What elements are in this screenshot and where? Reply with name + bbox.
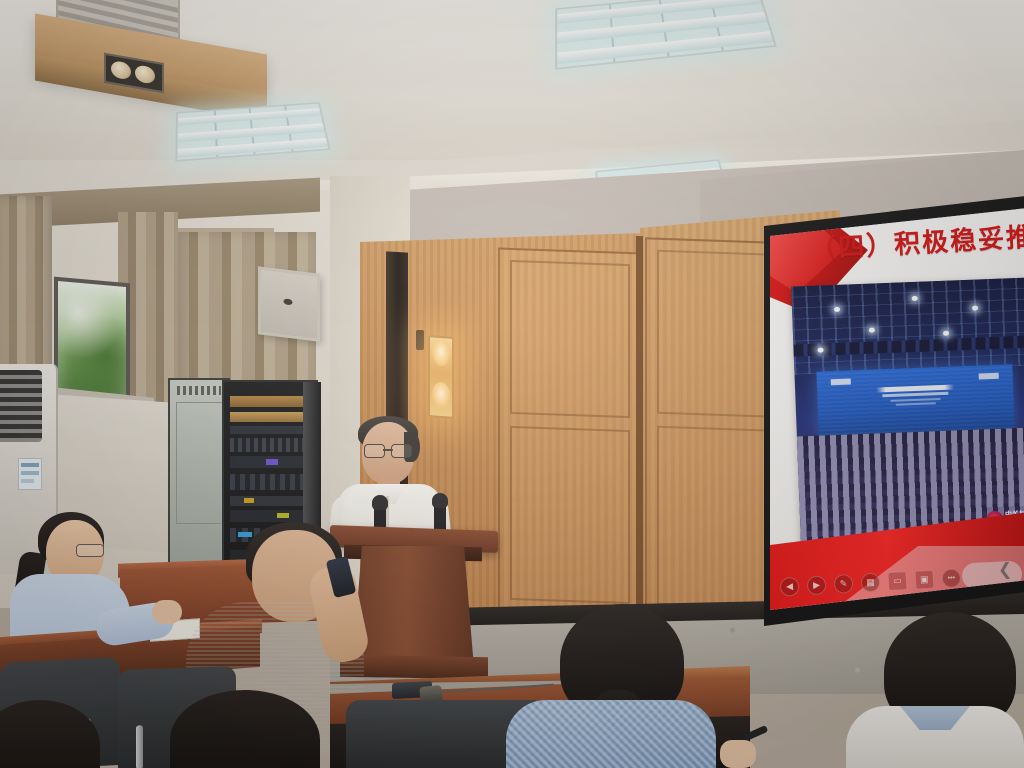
- projection-screen[interactable]: （四）积极稳妥推进: [766, 208, 1024, 610]
- wall-door-left[interactable]: [498, 247, 642, 616]
- wall-speaker-icon: [258, 266, 320, 342]
- speaker-eyeglasses-icon: [364, 444, 412, 457]
- pen-tool-button[interactable]: ✎: [834, 574, 854, 594]
- previous-slide-chevron-icon[interactable]: ❮: [997, 560, 1012, 581]
- presenter-view-button[interactable]: ▣: [914, 570, 934, 590]
- attendee-woman-tweed-hand: [720, 740, 756, 768]
- all-slides-button[interactable]: ▦: [861, 573, 881, 593]
- air-conditioner-grille: [0, 370, 42, 442]
- slide-conference-photo: 中关村 2021 ZGC: [791, 278, 1024, 545]
- conference-room-photo: （四）积极稳妥推进: [0, 0, 1024, 768]
- zoom-button[interactable]: ▭: [887, 571, 907, 591]
- stage-truss: [791, 278, 1024, 375]
- attendee-woman-hand: [152, 600, 182, 624]
- next-slide-button[interactable]: ▶: [807, 575, 827, 595]
- attendee-woman-tweed-jacket: [506, 700, 716, 768]
- door-gap: [636, 236, 643, 626]
- more-options-button[interactable]: •••: [941, 568, 961, 588]
- previous-slide-button[interactable]: ◀: [780, 577, 800, 597]
- stage-forum-caption: [872, 384, 959, 408]
- air-conditioner-label: [18, 458, 42, 490]
- presentation-slide: （四）积极稳妥推进: [766, 208, 1024, 610]
- podium: [352, 546, 474, 668]
- wall-sconce-light: [428, 335, 454, 419]
- attendee-woman-eyeglasses-icon: [76, 544, 104, 557]
- sconce-bracket: [416, 330, 424, 350]
